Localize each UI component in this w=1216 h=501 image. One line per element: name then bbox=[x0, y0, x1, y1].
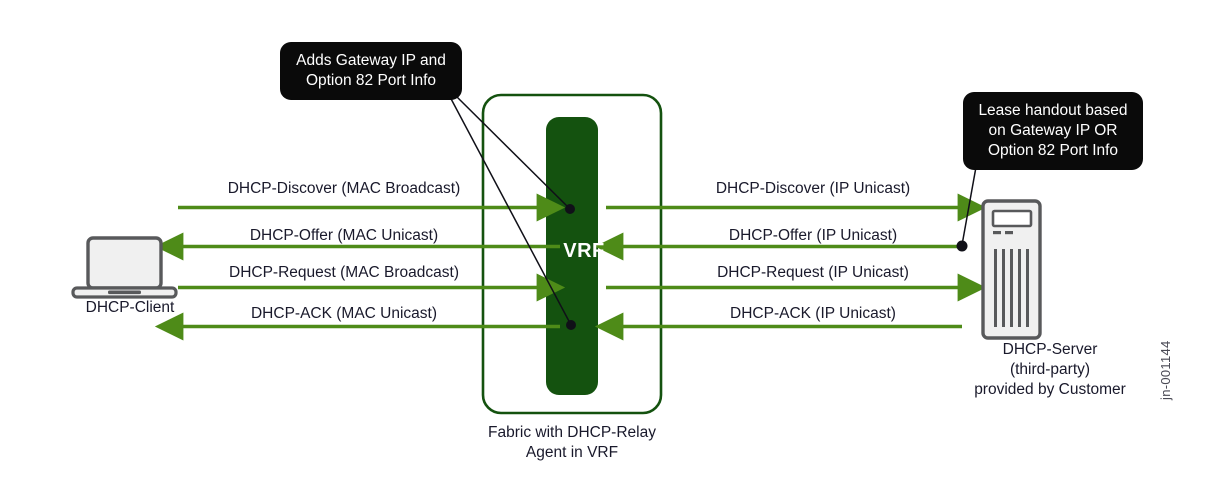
leader-dot-left-lower bbox=[566, 320, 576, 330]
flow-label-left-2: DHCP-Offer (MAC Unicast) bbox=[164, 227, 524, 245]
flow-label-left-3: DHCP-Request (MAC Broadcast) bbox=[164, 264, 524, 282]
laptop-icon bbox=[73, 238, 176, 297]
callout-right-line-1: Lease handout based bbox=[977, 101, 1129, 121]
watermark-label: jn-001144 bbox=[1158, 340, 1173, 400]
flow-label-left-1: DHCP-Discover (MAC Broadcast) bbox=[164, 180, 524, 198]
vrf-caption-line-2: Agent in VRF bbox=[460, 443, 684, 463]
diagram-canvas: Adds Gateway IP and Option 82 Port Info … bbox=[0, 0, 1216, 501]
callout-right-line-2: on Gateway IP OR bbox=[977, 121, 1129, 141]
server-caption-line-1: DHCP-Server bbox=[930, 340, 1170, 360]
callout-left-line-1: Adds Gateway IP and bbox=[294, 51, 448, 71]
lease-handout-callout: Lease handout based on Gateway IP OR Opt… bbox=[963, 92, 1143, 170]
callout-left-line-2: Option 82 Port Info bbox=[294, 71, 448, 91]
leader-dot-left-upper bbox=[565, 204, 575, 214]
server-caption: DHCP-Server (third-party) provided by Cu… bbox=[930, 340, 1170, 400]
flow-label-right-3: DHCP-Request (IP Unicast) bbox=[633, 264, 993, 282]
vrf-caption-line-1: Fabric with DHCP-Relay bbox=[460, 423, 684, 443]
vrf-label: VRF bbox=[546, 240, 622, 263]
flow-label-right-4: DHCP-ACK (IP Unicast) bbox=[633, 305, 993, 323]
client-caption: DHCP-Client bbox=[40, 298, 220, 318]
flow-label-right-2: DHCP-Offer (IP Unicast) bbox=[633, 227, 993, 245]
server-caption-line-2: (third-party) bbox=[930, 360, 1170, 380]
adds-gateway-ip-callout: Adds Gateway IP and Option 82 Port Info bbox=[280, 42, 462, 100]
callout-right-line-3: Option 82 Port Info bbox=[977, 141, 1129, 161]
vrf-caption: Fabric with DHCP-Relay Agent in VRF bbox=[460, 423, 684, 463]
flow-label-right-1: DHCP-Discover (IP Unicast) bbox=[633, 180, 993, 198]
server-caption-line-3: provided by Customer bbox=[930, 380, 1170, 400]
